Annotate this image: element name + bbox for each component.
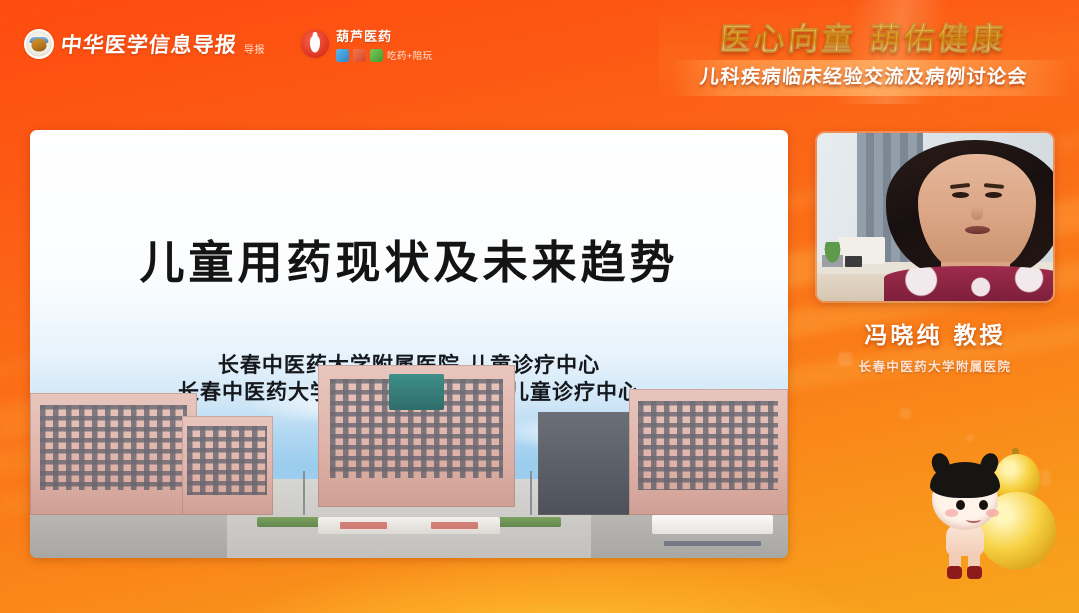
- broadcast-stage: 中华医学信息导报 导报 葫芦医药 吃药+陪玩 医心向童 葫佑健康 儿科疾病临床经…: [0, 0, 1079, 613]
- gourd-boy-mascot: [918, 438, 1058, 588]
- campus-building: [182, 416, 273, 514]
- bokeh-square: [900, 408, 911, 419]
- nose: [971, 207, 983, 220]
- primary-logo-suffix: 导报: [244, 41, 265, 59]
- webcam-potted-plant: [822, 242, 843, 267]
- campus-motto-stone: [318, 517, 500, 535]
- webcam-desk-object: [845, 256, 862, 268]
- sponsor-name: 葫芦医药: [336, 26, 433, 45]
- campus-building: [30, 393, 197, 515]
- speaker-shirt: [884, 266, 1053, 301]
- mouth: [965, 226, 990, 234]
- gourd-badge-icon: [301, 30, 329, 58]
- mascot-blush: [986, 509, 999, 517]
- campus-building: [538, 412, 637, 514]
- lamp-post: [303, 471, 305, 514]
- mascot-eye: [956, 500, 965, 510]
- sponsor-logo: 葫芦医药 吃药+陪玩: [301, 26, 433, 62]
- medical-seal-icon: [24, 29, 54, 59]
- speaker-organization: 长春中医药大学附属医院: [807, 356, 1063, 375]
- mascot-hair: [930, 462, 1000, 498]
- mascot-boot: [967, 566, 982, 579]
- mascot-eye: [979, 500, 988, 510]
- mascot-boot: [947, 566, 962, 579]
- speaker-name: 冯晓纯 教授: [807, 316, 1063, 350]
- speaker-portrait: [874, 140, 1053, 301]
- speaker-face: [918, 154, 1036, 273]
- sponsor-text-block: 葫芦医药 吃药+陪玩: [336, 26, 433, 62]
- event-title: 医心向童 葫佑健康: [657, 14, 1069, 59]
- event-subtitle: 儿科疾病临床经验交流及病例讨论会: [658, 62, 1070, 89]
- mascot-mouth: [966, 516, 981, 523]
- eyebrow: [950, 183, 970, 189]
- speaker-webcam-feed[interactable]: [817, 133, 1053, 301]
- eye: [985, 192, 1001, 198]
- campus-name-sign: [652, 515, 773, 535]
- sponsor-tagline: 吃药+陪玩: [387, 48, 433, 62]
- eyebrow: [984, 183, 1004, 188]
- app-chip-icon: [353, 49, 366, 62]
- campus-main-building: [318, 365, 515, 507]
- sponsor-logo-bar: 中华医学信息导报 导报 葫芦医药 吃药+陪玩: [24, 26, 433, 62]
- eye: [952, 192, 968, 198]
- campus-building: [629, 389, 788, 515]
- app-chip-icon: [370, 49, 383, 62]
- primary-logo-text: 中华医学信息导报: [59, 29, 238, 59]
- sponsor-tagline-row: 吃药+陪玩: [336, 48, 433, 62]
- slide-title: 儿童用药现状及未来趋势: [30, 226, 788, 291]
- primary-logo: 中华医学信息导报 导报: [24, 29, 265, 59]
- event-banner: 医心向童 葫佑健康 儿科疾病临床经验交流及病例讨论会: [659, 0, 1079, 104]
- mascot-blush: [945, 509, 958, 517]
- mascot-child: [924, 462, 1010, 580]
- presentation-slide[interactable]: 儿童用药现状及未来趋势 长春中医药大学附属医院 儿童诊疗中心 长春中医药大学附属…: [30, 130, 788, 558]
- lamp-post: [530, 471, 532, 514]
- speaker-caption: 冯晓纯 教授 长春中医药大学附属医院: [807, 316, 1063, 375]
- campus-photo: [30, 361, 788, 558]
- app-chip-icon: [336, 49, 349, 62]
